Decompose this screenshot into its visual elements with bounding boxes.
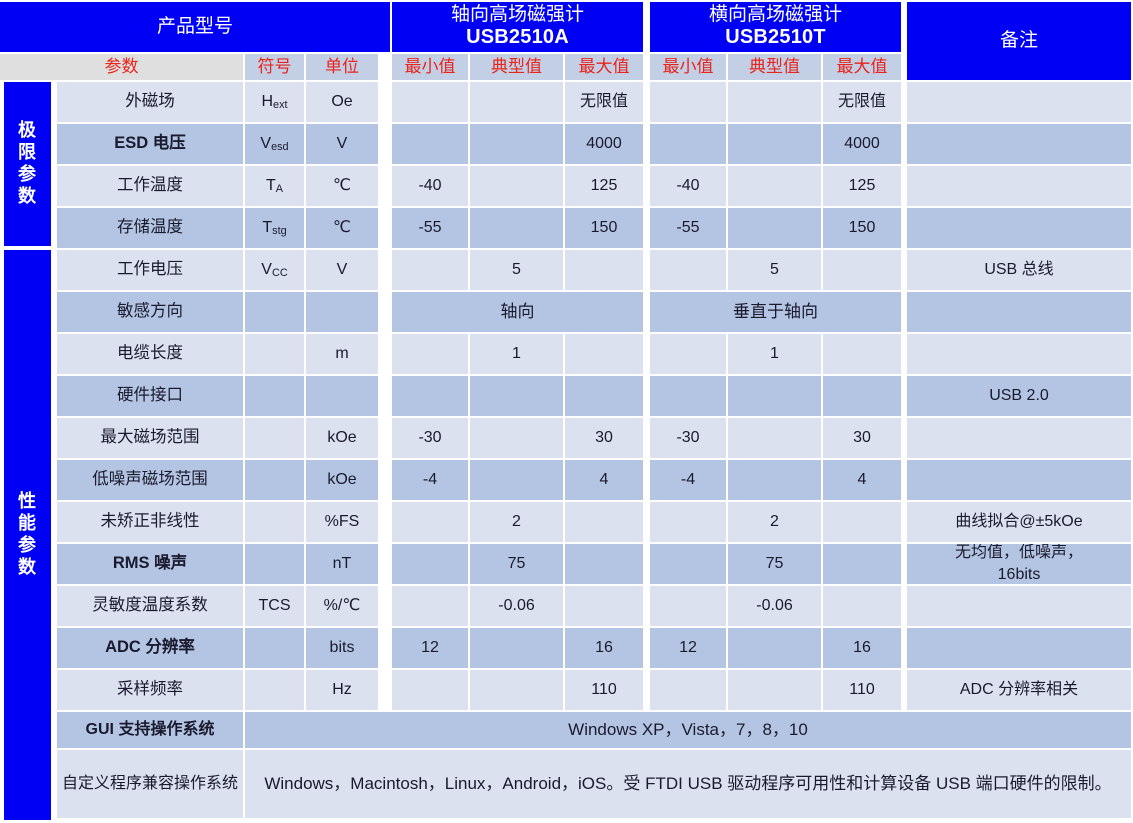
row-parameter-name: 敏感方向 (57, 292, 243, 332)
row-axial-min: -4 (392, 460, 468, 500)
row-symbol: TCS (245, 586, 304, 626)
row-axial-min (392, 586, 468, 626)
row-transverse-max: 4000 (823, 124, 901, 164)
row-parameter-name: RMS 噪声 (57, 544, 243, 584)
row-axial-max (565, 334, 643, 374)
device-title: 轴向高场磁强计 (451, 4, 584, 26)
header-product-model: 产品型号 (0, 2, 390, 52)
row-transverse-min (650, 502, 726, 542)
row-axial-min (392, 502, 468, 542)
row-parameter-name: 工作电压 (57, 250, 243, 290)
row-note (907, 460, 1131, 500)
section-label-char: 参 (18, 164, 37, 186)
section-label-char: 数 (18, 186, 37, 208)
section-label-char: 数 (18, 557, 37, 579)
row-transverse-min (650, 124, 726, 164)
row-symbol (245, 460, 304, 500)
row-note: 无均值，低噪声，16bits (907, 544, 1131, 584)
row-unit (306, 376, 378, 416)
row-note (907, 82, 1131, 122)
row-axial-min: -55 (392, 208, 468, 248)
row-transverse-max (823, 544, 901, 584)
row-transverse-typ: 1 (728, 334, 821, 374)
section-label-performance: 性能参数 (4, 250, 51, 820)
row-symbol (245, 418, 304, 458)
row-transverse-min: -4 (650, 460, 726, 500)
subheader-symbol: 符号 (245, 54, 304, 80)
row-note-line: ADC 分辨率相关 (960, 681, 1078, 700)
row-axial-typ (470, 628, 563, 668)
footer-parameter-name: 自定义程序兼容操作系统 (57, 750, 243, 818)
row-note (907, 166, 1131, 206)
row-axial-min (392, 376, 468, 416)
row-symbol-subscript: CC (272, 267, 288, 280)
row-unit: bits (306, 628, 378, 668)
row-transverse-max: 125 (823, 166, 901, 206)
row-axial-typ (470, 166, 563, 206)
row-transverse-typ (728, 418, 821, 458)
row-parameter-name: 工作温度 (57, 166, 243, 206)
footer-value: Windows XP，Vista，7，8，10 (245, 712, 1131, 748)
row-parameter-name: 最大磁场范围 (57, 418, 243, 458)
spec-table: 产品型号轴向高场磁强计USB2510A横向高场磁强计USB2510T备注参数符号… (0, 0, 1133, 823)
row-transverse-max: 30 (823, 418, 901, 458)
device-model: USB2510T (725, 26, 826, 50)
row-transverse-typ (728, 82, 821, 122)
row-unit: m (306, 334, 378, 374)
row-transverse-min: -55 (650, 208, 726, 248)
row-parameter-name: 外磁场 (57, 82, 243, 122)
row-parameter-name: ESD 电压 (57, 124, 243, 164)
row-axial-min (392, 334, 468, 374)
section-label-char: 性 (18, 491, 37, 513)
row-note-line: USB 2.0 (989, 387, 1049, 406)
row-axial-typ: -0.06 (470, 586, 563, 626)
row-transverse-min (650, 544, 726, 584)
row-transverse-max (823, 376, 901, 416)
row-transverse-max: 16 (823, 628, 901, 668)
row-axial-min (392, 544, 468, 584)
row-transverse-typ (728, 460, 821, 500)
row-axial-min: 12 (392, 628, 468, 668)
row-unit: V (306, 124, 378, 164)
row-unit: Hz (306, 670, 378, 710)
row-parameter-name: 电缆长度 (57, 334, 243, 374)
row-transverse-typ (728, 124, 821, 164)
header-device-2: 横向高场磁强计USB2510T (650, 2, 901, 52)
row-unit: V (306, 250, 378, 290)
row-note: 曲线拟合@±5kOe (907, 502, 1131, 542)
row-axial-max: 16 (565, 628, 643, 668)
row-transverse-max (823, 502, 901, 542)
device-title: 横向高场磁强计 (709, 4, 842, 26)
row-axial-max (565, 544, 643, 584)
row-unit: Oe (306, 82, 378, 122)
row-transverse-min (650, 82, 726, 122)
subheader-axial-max: 最大值 (565, 54, 643, 80)
row-axial-max: 4 (565, 460, 643, 500)
row-symbol-subscript: esd (271, 141, 289, 154)
row-transverse-min (650, 334, 726, 374)
row-symbol-subscript: stg (272, 225, 287, 238)
row-axial-max (565, 502, 643, 542)
row-axial-max: 150 (565, 208, 643, 248)
row-symbol (245, 334, 304, 374)
header-device-1: 轴向高场磁强计USB2510A (392, 2, 643, 52)
row-unit: %FS (306, 502, 378, 542)
row-axial-typ: 1 (470, 334, 563, 374)
row-axial-typ (470, 418, 563, 458)
row-parameter-name: 未矫正非线性 (57, 502, 243, 542)
subheader-parameter: 参数 (0, 54, 243, 80)
row-axial-typ (470, 124, 563, 164)
row-unit: ℃ (306, 166, 378, 206)
row-transverse-typ: -0.06 (728, 586, 821, 626)
row-parameter-name: ADC 分辨率 (57, 628, 243, 668)
row-note (907, 124, 1131, 164)
section-label-char: 参 (18, 535, 37, 557)
row-transverse-typ (728, 208, 821, 248)
subheader-axial-min: 最小值 (392, 54, 468, 80)
row-note-line: 无均值，低噪声， (955, 544, 1083, 564)
subheader-transverse-min: 最小值 (650, 54, 726, 80)
footer-value: Windows，Macintosh，Linux，Android，iOS。受 FT… (245, 750, 1131, 818)
row-transverse-min: -40 (650, 166, 726, 206)
row-unit (306, 292, 378, 332)
row-transverse-typ: 75 (728, 544, 821, 584)
section-label-char: 极 (18, 120, 37, 142)
row-note: ADC 分辨率相关 (907, 670, 1131, 710)
row-transverse-typ (728, 628, 821, 668)
row-transverse-min (650, 376, 726, 416)
row-axial-min (392, 670, 468, 710)
row-note: USB 2.0 (907, 376, 1131, 416)
row-symbol: Tstg (245, 208, 304, 248)
row-axial-typ (470, 376, 563, 416)
row-axial-typ (470, 82, 563, 122)
row-transverse-max (823, 586, 901, 626)
row-parameter-name: 存储温度 (57, 208, 243, 248)
row-axial-max: 4000 (565, 124, 643, 164)
row-note (907, 418, 1131, 458)
footer-parameter-name: GUI 支持操作系统 (57, 712, 243, 748)
row-transverse-min (650, 586, 726, 626)
row-axial-typ: 75 (470, 544, 563, 584)
row-axial-max (565, 376, 643, 416)
row-note: USB 总线 (907, 250, 1131, 290)
row-axial-max: 30 (565, 418, 643, 458)
row-axial-min: -30 (392, 418, 468, 458)
row-unit: nT (306, 544, 378, 584)
row-axial-min (392, 250, 468, 290)
row-transverse-typ (728, 376, 821, 416)
row-symbol (245, 292, 304, 332)
row-symbol: TA (245, 166, 304, 206)
row-axial-max (565, 586, 643, 626)
row-symbol-subscript: A (276, 183, 283, 196)
row-note-line: 曲线拟合@±5kOe (955, 513, 1082, 532)
row-note-line: USB 总线 (984, 261, 1053, 280)
section-label-char: 能 (18, 513, 37, 535)
row-axial-typ (470, 670, 563, 710)
row-axial-min (392, 124, 468, 164)
row-axial-span-value: 轴向 (392, 292, 643, 332)
row-symbol (245, 502, 304, 542)
subheader-unit: 单位 (306, 54, 378, 80)
row-symbol (245, 544, 304, 584)
row-axial-min: -40 (392, 166, 468, 206)
row-note (907, 586, 1131, 626)
row-parameter-name: 灵敏度温度系数 (57, 586, 243, 626)
row-transverse-typ (728, 166, 821, 206)
row-note (907, 292, 1131, 332)
row-axial-typ: 2 (470, 502, 563, 542)
row-note (907, 208, 1131, 248)
row-transverse-min (650, 250, 726, 290)
row-parameter-name: 硬件接口 (57, 376, 243, 416)
row-axial-max: 110 (565, 670, 643, 710)
row-transverse-min: -30 (650, 418, 726, 458)
row-symbol (245, 376, 304, 416)
row-symbol: Hext (245, 82, 304, 122)
row-unit: ℃ (306, 208, 378, 248)
row-transverse-max: 150 (823, 208, 901, 248)
subheader-transverse-typ: 典型值 (728, 54, 821, 80)
section-label-limit: 极限参数 (4, 82, 51, 246)
row-symbol (245, 628, 304, 668)
row-unit: kOe (306, 460, 378, 500)
row-transverse-typ: 5 (728, 250, 821, 290)
row-parameter-name: 低噪声磁场范围 (57, 460, 243, 500)
row-transverse-typ: 2 (728, 502, 821, 542)
row-axial-min (392, 82, 468, 122)
row-axial-typ (470, 460, 563, 500)
row-note (907, 628, 1131, 668)
section-label-char: 限 (18, 142, 37, 164)
row-transverse-max (823, 334, 901, 374)
row-transverse-min: 12 (650, 628, 726, 668)
row-axial-max: 无限值 (565, 82, 643, 122)
device-model: USB2510A (466, 26, 569, 50)
row-axial-typ (470, 208, 563, 248)
row-transverse-max: 110 (823, 670, 901, 710)
row-axial-max (565, 250, 643, 290)
row-axial-typ: 5 (470, 250, 563, 290)
subheader-transverse-max: 最大值 (823, 54, 901, 80)
row-symbol (245, 670, 304, 710)
row-transverse-span-value: 垂直于轴向 (650, 292, 901, 332)
row-transverse-max (823, 250, 901, 290)
row-axial-max: 125 (565, 166, 643, 206)
row-symbol-subscript: ext (273, 99, 288, 112)
header-remark: 备注 (907, 2, 1131, 80)
row-transverse-min (650, 670, 726, 710)
row-symbol: VCC (245, 250, 304, 290)
row-symbol: Vesd (245, 124, 304, 164)
row-unit: kOe (306, 418, 378, 458)
row-transverse-typ (728, 670, 821, 710)
row-transverse-max: 无限值 (823, 82, 901, 122)
row-note (907, 334, 1131, 374)
row-transverse-max: 4 (823, 460, 901, 500)
row-parameter-name: 采样频率 (57, 670, 243, 710)
row-note-line: 16bits (998, 564, 1041, 584)
subheader-axial-typ: 典型值 (470, 54, 563, 80)
row-unit: %/℃ (306, 586, 378, 626)
